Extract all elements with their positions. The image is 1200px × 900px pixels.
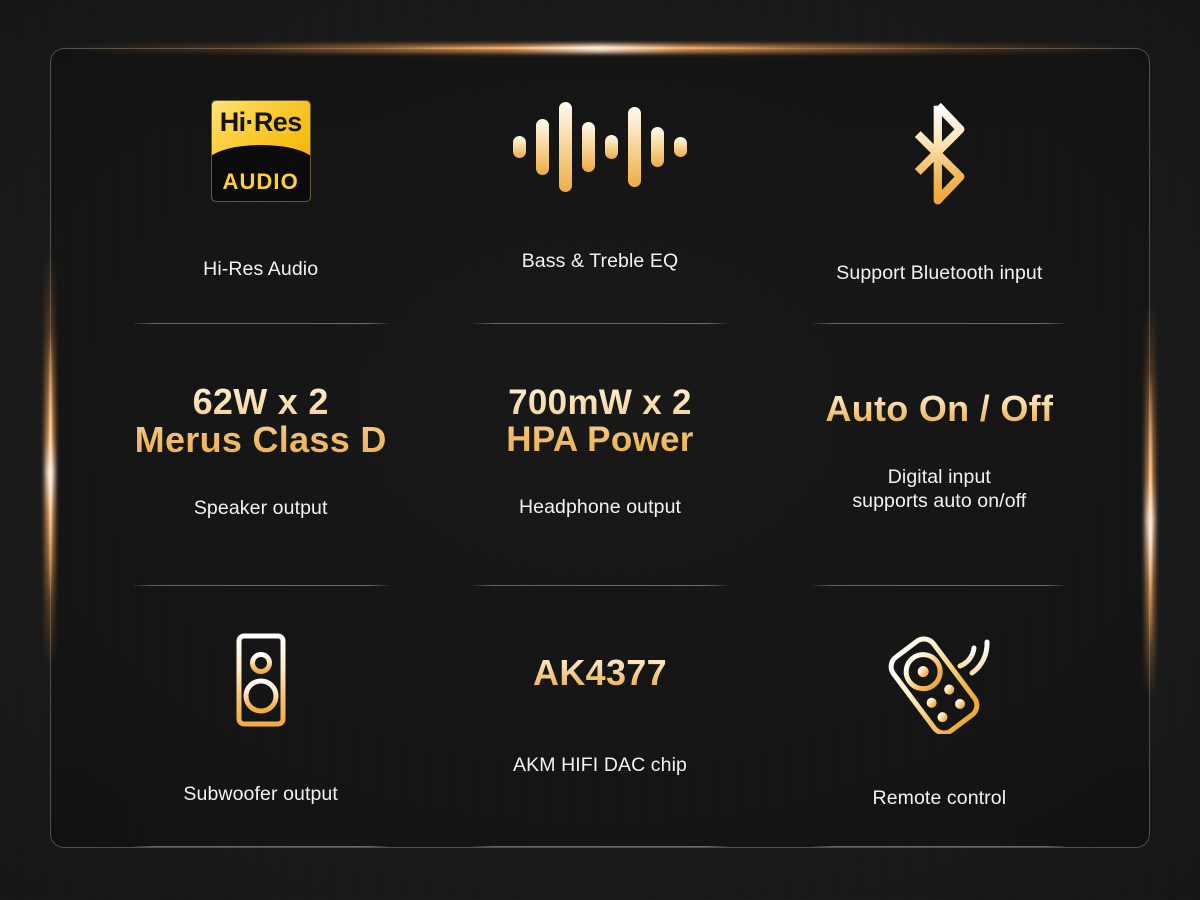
hi-res-audio-badge: Hi·Res AUDIO xyxy=(212,101,310,201)
feature-headline-headphone-output: 700mW x 2 HPA Power xyxy=(506,384,693,460)
feature-caption-dac-chip: AKM HIFI DAC chip xyxy=(513,753,687,777)
bluetooth-icon xyxy=(893,101,985,205)
feature-caption-auto-on-off: Digital input supports auto on/off xyxy=(852,465,1026,513)
feature-grid: Hi·Res AUDIO Hi-Res Audio Bass & Treble … xyxy=(51,49,1149,847)
feature-caption-bass-treble-eq: Bass & Treble EQ xyxy=(522,249,679,273)
feature-card: Hi·Res AUDIO Hi-Res Audio Bass & Treble … xyxy=(50,48,1150,848)
equalizer-bar xyxy=(651,127,664,167)
equalizer-bar xyxy=(674,137,687,157)
equalizer-bar xyxy=(536,119,549,175)
equalizer-icon xyxy=(513,101,687,193)
feature-cell-dac-chip: AK4377 AKM HIFI DAC chip xyxy=(430,586,769,847)
feature-cell-hi-res-audio: Hi·Res AUDIO Hi-Res Audio xyxy=(91,63,430,324)
feature-caption-remote-control: Remote control xyxy=(873,786,1007,810)
cell-divider xyxy=(473,846,727,847)
feature-caption-hi-res-audio: Hi-Res Audio xyxy=(203,257,318,281)
feature-headline-dac-chip: AK4377 xyxy=(533,654,667,693)
equalizer-bars xyxy=(513,101,687,193)
equalizer-bar xyxy=(559,102,572,192)
hi-res-audio-logo-icon: Hi·Res AUDIO xyxy=(212,101,310,201)
feature-cell-bluetooth-input: Support Bluetooth input xyxy=(770,63,1109,324)
hi-res-logo-bottom-text: AUDIO xyxy=(212,171,310,193)
remote-control-icon xyxy=(882,630,996,734)
equalizer-bar xyxy=(513,136,526,158)
feature-caption-speaker-output: Speaker output xyxy=(194,496,328,520)
feature-cell-subwoofer-output: Subwoofer output xyxy=(91,586,430,847)
feature-headline-auto-on-off: Auto On / Off xyxy=(825,390,1053,429)
feature-caption-headphone-output: Headphone output xyxy=(519,495,681,519)
feature-cell-remote-control: Remote control xyxy=(770,586,1109,847)
cell-divider xyxy=(813,846,1065,847)
cell-divider xyxy=(134,846,388,847)
hi-res-logo-top-text: Hi·Res xyxy=(212,109,310,136)
feature-cell-speaker-output: 62W x 2 Merus Class D Speaker output xyxy=(91,324,430,585)
feature-cell-bass-treble-eq: Bass & Treble EQ xyxy=(430,63,769,324)
speaker-icon xyxy=(223,630,299,730)
feature-caption-subwoofer-output: Subwoofer output xyxy=(183,782,337,806)
equalizer-bar xyxy=(582,122,595,172)
feature-caption-bluetooth-input: Support Bluetooth input xyxy=(836,261,1042,285)
equalizer-bar xyxy=(605,135,618,159)
feature-cell-headphone-output: 700mW x 2 HPA Power Headphone output xyxy=(430,324,769,585)
feature-headline-speaker-output: 62W x 2 Merus Class D xyxy=(135,383,387,461)
equalizer-bar xyxy=(628,107,641,187)
feature-cell-auto-on-off: Auto On / Off Digital input supports aut… xyxy=(770,324,1109,585)
